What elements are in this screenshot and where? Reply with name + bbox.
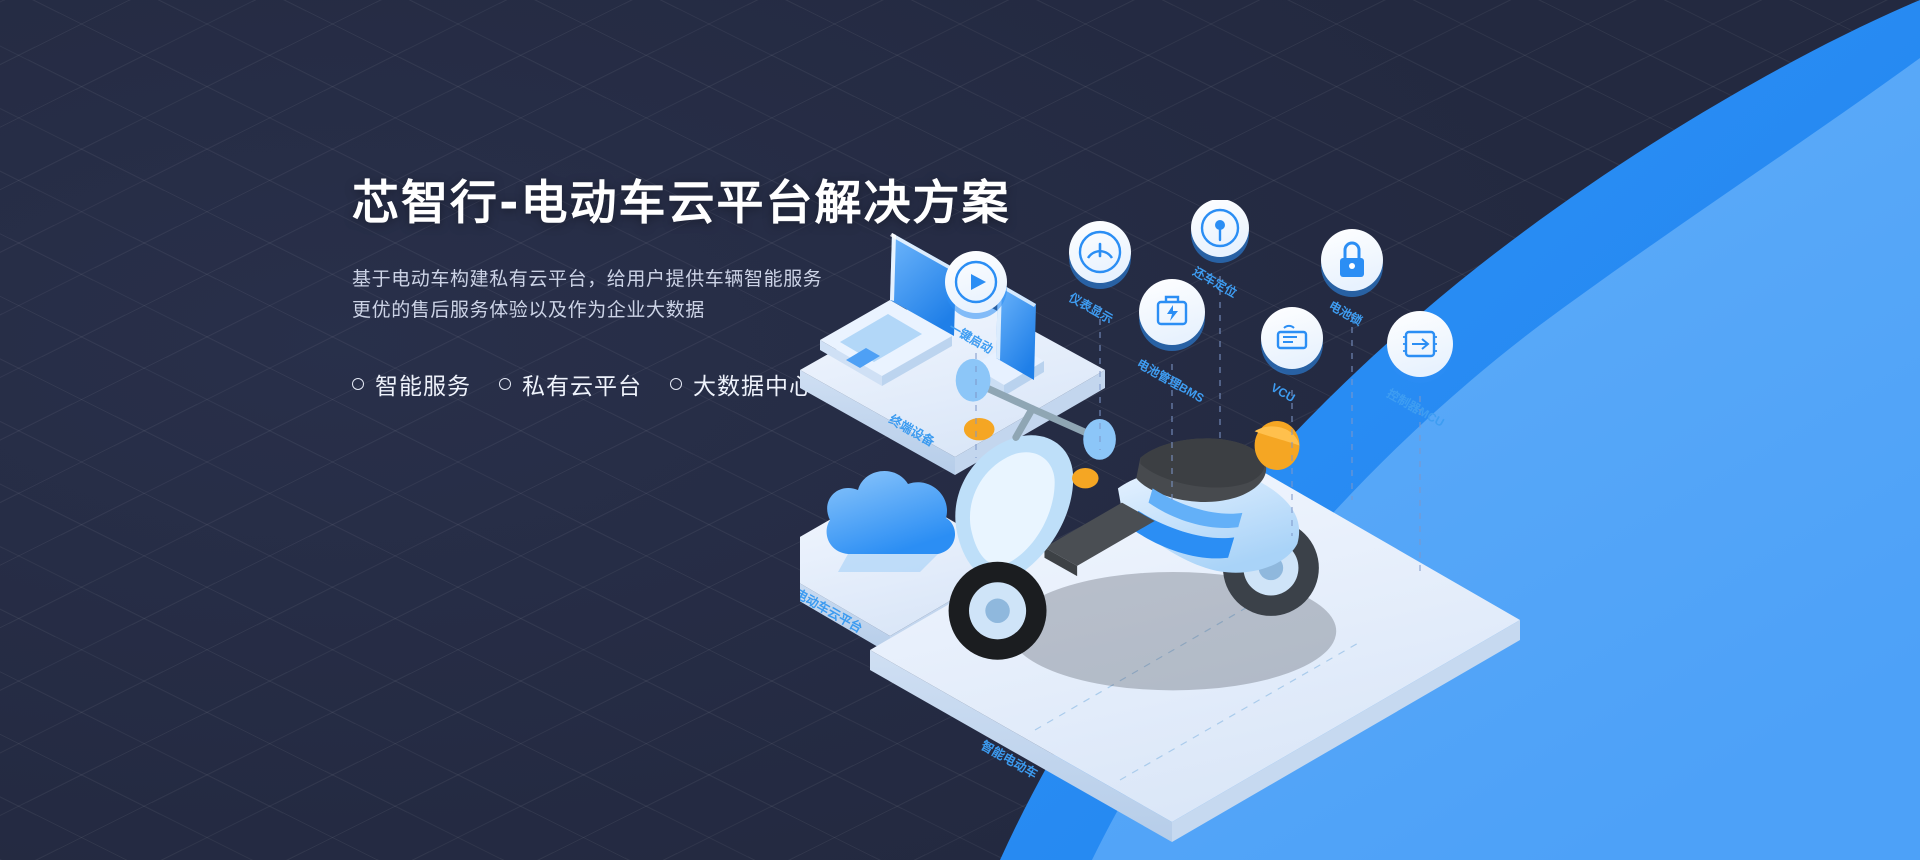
- badge-vcu[interactable]: VCU: [1261, 307, 1323, 405]
- feature-label: 智能服务: [375, 367, 471, 401]
- circle-bullet-icon: [352, 378, 364, 390]
- circle-bullet-icon: [499, 378, 511, 390]
- badge-label: 仪表显示: [1066, 289, 1116, 326]
- feature-label: 私有云平台: [522, 367, 642, 401]
- badge-label: VCU: [1269, 380, 1298, 405]
- badge-label: 电池锁: [1327, 298, 1366, 329]
- smart-ev-platform[interactable]: 智能电动车: [870, 359, 1520, 842]
- circle-bullet-icon: [670, 378, 682, 390]
- feature-item-private-cloud[interactable]: 私有云平台: [499, 367, 642, 401]
- badge-park-locate[interactable]: 还车定位: [1190, 200, 1249, 300]
- badge-dashboard[interactable]: 仪表显示: [1066, 221, 1131, 326]
- badge-mcu[interactable]: 控制器MCU: [1385, 311, 1453, 430]
- feature-label: 大数据中心: [693, 367, 813, 401]
- badge-label: 电池管理BMS: [1135, 356, 1207, 406]
- feature-item-smart-service[interactable]: 智能服务: [352, 367, 471, 401]
- badge-label: 控制器MCU: [1385, 386, 1448, 430]
- hero-banner: 芯智行-电动车云平台解决方案 基于电动车构建私有云平台，给用户提供车辆智能服务 …: [0, 0, 1920, 860]
- badge-battery-lock[interactable]: 电池锁: [1321, 229, 1383, 328]
- badge-bms[interactable]: 电池管理BMS: [1135, 279, 1207, 405]
- feature-item-big-data[interactable]: 大数据中心: [670, 367, 813, 401]
- isometric-illustration: 终端设备 电动车云平台: [800, 200, 1920, 860]
